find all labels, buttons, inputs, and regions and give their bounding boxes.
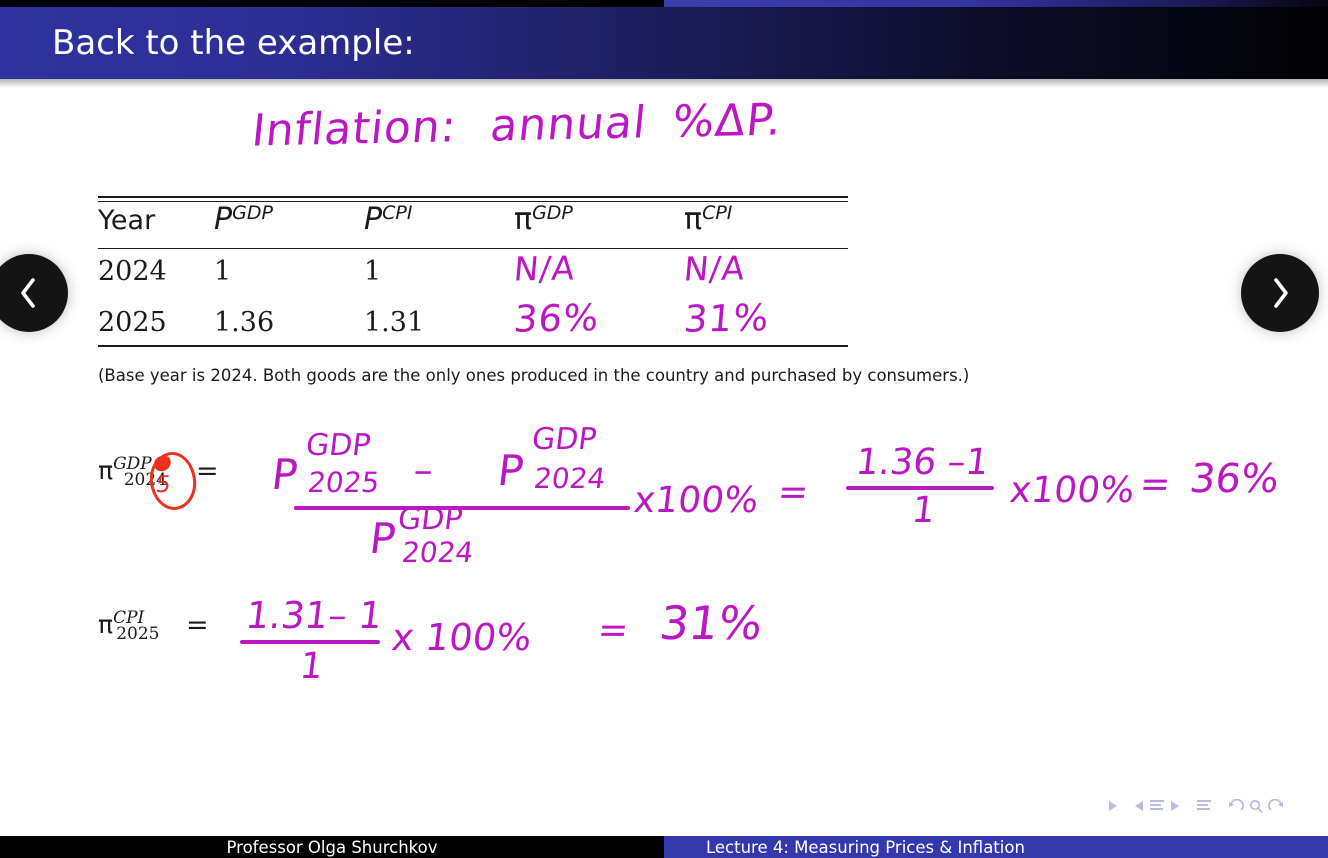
handwritten-heading: Inflation:annual%ΔP. — [249, 94, 784, 156]
eq-cpi-value-denominator: 1 — [297, 646, 325, 687]
cell-year-2024: 2024 — [98, 249, 214, 297]
handwritten-heading-part2: annual — [488, 97, 649, 151]
slide-next-icon[interactable] — [1108, 800, 1118, 812]
equation-gdp-inflation: πGDP2024 = 5 P GDP 2025 – P GDP 2024 P G… — [98, 428, 1328, 588]
slide-header-bar: Back to the example: — [0, 7, 1328, 79]
header-shadow — [0, 79, 1328, 88]
frame-prev-icon[interactable] — [1134, 800, 1144, 812]
chevron-right-icon — [1268, 276, 1292, 310]
page-title: Back to the example: — [0, 26, 415, 60]
cell-pigdp-2024: N/A — [514, 249, 684, 297]
column-header-pi-cpi: πCPI — [684, 202, 848, 248]
column-header-year: Year — [98, 202, 214, 248]
eq-gdp-num-left-p: P — [269, 450, 300, 499]
eq-gdp-num-right-sub: 2024 — [532, 462, 607, 495]
eq-gdp-equals: = — [196, 456, 219, 487]
eq-gdp-minus: – — [411, 448, 435, 492]
eq-gdp-result: 36% — [1187, 456, 1282, 502]
cell-pcpi-2024: 1 — [364, 249, 514, 297]
back-icon[interactable] — [1228, 799, 1244, 813]
eq-cpi-equals: = — [186, 610, 209, 641]
eq-gdp-den-p: P — [367, 514, 398, 563]
eq-cpi-fraction-bar — [240, 640, 380, 644]
frame-icon[interactable] — [1149, 799, 1165, 813]
cell-year-2025: 2025 — [98, 297, 214, 345]
price-index-table-wrapper: Year PGDP PCPI πGDP πCPI 2024 1 1 N/A N/… — [98, 196, 848, 347]
forward-icon[interactable] — [1268, 799, 1284, 813]
header-top-strip — [0, 0, 1328, 7]
frame-next-icon[interactable] — [1170, 800, 1180, 812]
table-header-row: Year PGDP PCPI πGDP πCPI — [98, 202, 848, 248]
cell-pcpi-2025: 1.31 — [364, 297, 514, 345]
eq-gdp-value-fraction-bar — [846, 486, 994, 490]
eq-gdp-times-100-b: x100% — [1007, 470, 1136, 511]
slide-footer: Professor Olga Shurchkov Lecture 4: Meas… — [0, 836, 1328, 858]
subsection-icon[interactable] — [1196, 799, 1212, 813]
table-caption: (Base year is 2024. Both goods are the o… — [98, 366, 898, 385]
cell-pigdp-2025: 36% — [514, 297, 684, 345]
search-icon[interactable] — [1249, 799, 1263, 813]
price-index-table: Year PGDP PCPI πGDP πCPI — [98, 202, 848, 248]
eq-cpi-pi-label: πCPI2025 — [98, 610, 160, 639]
header-strip-left — [0, 0, 664, 7]
eq-gdp-times-100: x100% — [631, 480, 760, 521]
eq-cpi-times-100: x 100% — [389, 616, 534, 659]
cell-picpi-2024: N/A — [684, 249, 848, 297]
table-row: 2025 1.36 1.31 36% 31% — [98, 297, 848, 345]
eq-cpi-result: 31% — [657, 596, 766, 650]
previous-slide-button[interactable] — [0, 254, 68, 332]
cell-pgdp-2025: 1.36 — [214, 297, 364, 345]
cell-pgdp-2024: 1 — [214, 249, 364, 297]
column-header-pi-gdp: πGDP — [514, 202, 684, 248]
column-header-p-cpi: PCPI — [364, 202, 514, 248]
table-row: 2024 1 1 N/A N/A — [98, 249, 848, 297]
eq-gdp-num-right-sup: GDP — [530, 422, 599, 457]
handwritten-heading-part1: Inflation: — [249, 101, 459, 156]
eq-gdp-num-left-sup: GDP — [304, 428, 373, 463]
chevron-left-icon — [17, 276, 41, 310]
eq-gdp-value-denominator: 1 — [909, 490, 937, 531]
eq-gdp-den-sub: 2024 — [400, 536, 475, 569]
column-header-p-gdp: PGDP — [214, 202, 364, 248]
eq-cpi-value-numerator: 1.31– 1 — [243, 594, 384, 637]
header-strip-right — [664, 0, 1328, 7]
eq-gdp-equals-2: = — [775, 472, 810, 513]
next-slide-button[interactable] — [1241, 254, 1319, 332]
beamer-navigation-symbols[interactable] — [1108, 793, 1328, 819]
equation-cpi-inflation: πCPI2025 = 1.31– 1 1 x 100% = 31% — [98, 596, 998, 716]
nav-group-frame[interactable] — [1134, 799, 1180, 813]
handwritten-heading-part3: %ΔP. — [670, 94, 785, 147]
eq-gdp-den-sup: GDP — [396, 502, 465, 537]
price-index-table-body: 2024 1 1 N/A N/A 2025 1.36 1.31 36% 31% — [98, 249, 848, 345]
nav-group-history[interactable] — [1228, 799, 1284, 813]
nav-group-slide[interactable] — [1108, 800, 1118, 812]
cell-picpi-2025: 31% — [684, 297, 848, 345]
table-bottom-rule — [98, 345, 848, 347]
nav-group-subsection[interactable] — [1196, 799, 1212, 813]
eq-gdp-num-left-sub: 2025 — [306, 466, 381, 499]
eq-gdp-num-right-p: P — [495, 446, 526, 495]
footer-author: Professor Olga Shurchkov — [0, 836, 664, 858]
eq-gdp-equals-3: = — [1137, 464, 1172, 505]
eq-cpi-equals-2: = — [595, 610, 630, 651]
footer-lecture-title: Lecture 4: Measuring Prices & Inflation — [664, 836, 1328, 858]
eq-gdp-value-numerator: 1.36 –1 — [853, 442, 991, 483]
